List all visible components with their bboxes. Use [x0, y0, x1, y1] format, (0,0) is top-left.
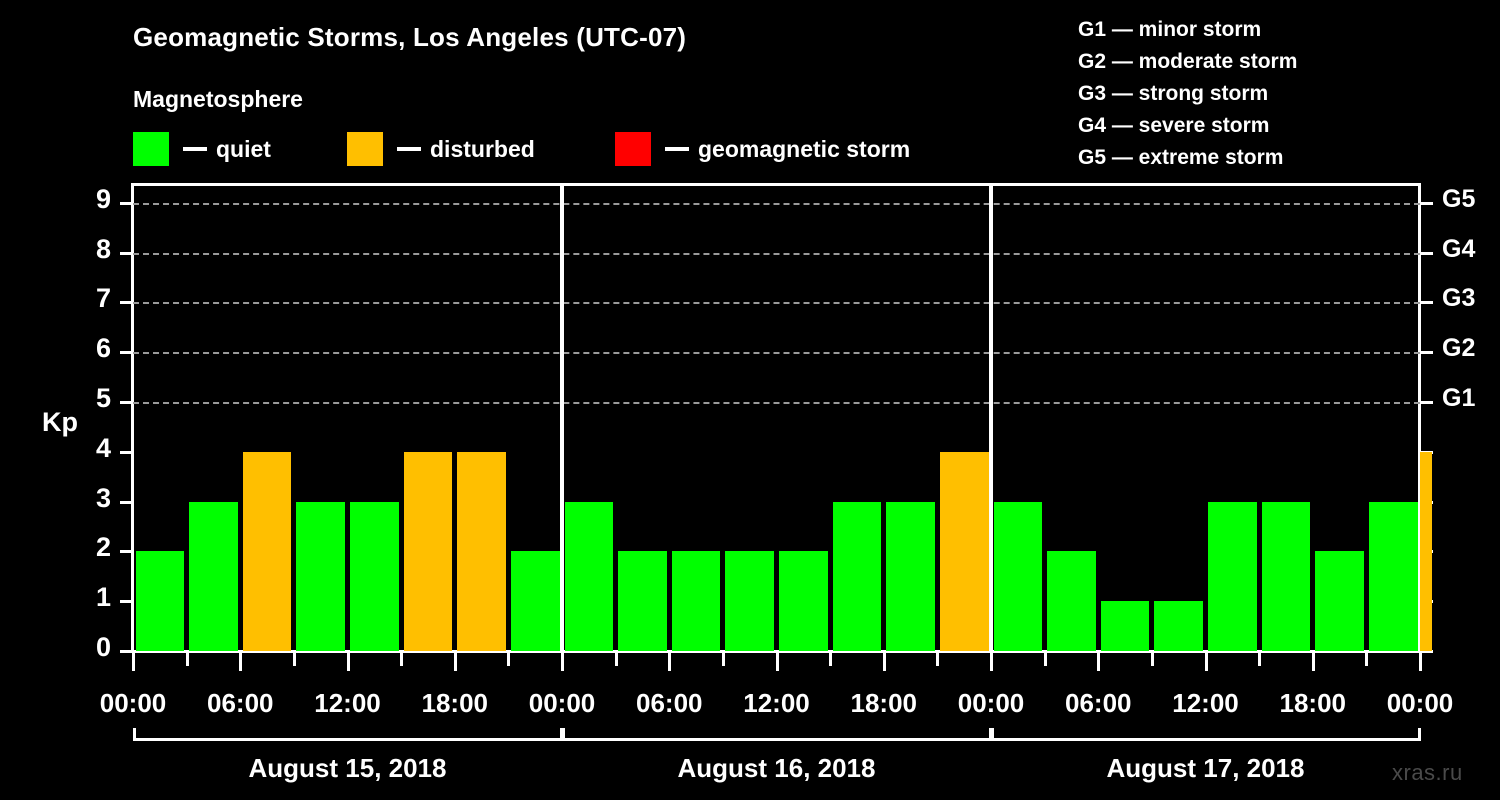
- y-tick-label-9: 9: [61, 184, 111, 215]
- x-tick-3: [293, 653, 296, 666]
- kp-bar[interactable]: [457, 452, 506, 651]
- kp-bar[interactable]: [1420, 452, 1432, 651]
- x-tick-14: [883, 653, 886, 671]
- g-scale-row-g1: G1 — minor storm: [1078, 14, 1297, 46]
- y-tick-right-9: [1420, 202, 1433, 205]
- kp-bar[interactable]: [404, 452, 453, 651]
- y-tick-label-1: 1: [61, 582, 111, 613]
- x-tick-label-9: 06:00: [1065, 688, 1132, 719]
- y-tick-left-7: [120, 301, 133, 304]
- g-axis-label-g5: G5: [1442, 185, 1475, 214]
- g-scale-row-g2: G2 — moderate storm: [1078, 46, 1297, 78]
- legend-label-quiet: quiet: [216, 138, 271, 161]
- y-tick-label-6: 6: [61, 333, 111, 364]
- x-tick-2: [239, 653, 242, 671]
- page-title: Geomagnetic Storms, Los Angeles (UTC-07): [133, 22, 686, 53]
- kp-bar[interactable]: [994, 502, 1043, 651]
- x-tick-23: [1365, 653, 1368, 666]
- date-bracket-end: [1418, 728, 1421, 741]
- x-tick-label-6: 12:00: [743, 688, 810, 719]
- y-tick-label-2: 2: [61, 532, 111, 563]
- kp-bar[interactable]: [350, 502, 399, 651]
- x-tick-13: [829, 653, 832, 666]
- x-tick-7: [507, 653, 510, 666]
- legend-label-geomagnetic-storm: geomagnetic storm: [698, 138, 910, 161]
- y-tick-left-2: [120, 550, 133, 553]
- y-tick-left-3: [120, 501, 133, 504]
- y-tick-label-5: 5: [61, 383, 111, 414]
- kp-bar[interactable]: [725, 551, 774, 651]
- x-tick-label-4: 00:00: [529, 688, 596, 719]
- y-tick-label-3: 3: [61, 483, 111, 514]
- date-bracket-2: [562, 738, 991, 741]
- legend-dash-quiet-icon: [183, 147, 207, 151]
- kp-bar[interactable]: [136, 551, 185, 651]
- x-tick-label-10: 12:00: [1172, 688, 1239, 719]
- legend-item-quiet: quiet: [133, 132, 271, 166]
- plot-area: 0123456789G1G2G3G4G5: [133, 183, 1420, 651]
- x-tick-11: [722, 653, 725, 666]
- legend-label-disturbed: disturbed: [430, 138, 535, 161]
- x-tick-19: [1151, 653, 1154, 666]
- kp-bar[interactable]: [511, 551, 560, 651]
- x-tick-20: [1205, 653, 1208, 671]
- kp-bar[interactable]: [779, 551, 828, 651]
- kp-bar[interactable]: [618, 551, 667, 651]
- g-scale-legend: G1 — minor stormG2 — moderate stormG3 — …: [1078, 14, 1297, 174]
- date-bracket-3: [991, 738, 1420, 741]
- kp-bar[interactable]: [1262, 502, 1311, 651]
- x-tick-label-5: 06:00: [636, 688, 703, 719]
- y-tick-label-7: 7: [61, 283, 111, 314]
- kp-bar[interactable]: [1208, 502, 1257, 651]
- date-bracket-end: [562, 728, 565, 741]
- g-scale-row-g5: G5 — extreme storm: [1078, 142, 1297, 174]
- x-tick-0: [132, 653, 135, 671]
- g-axis-label-g3: G3: [1442, 284, 1475, 313]
- y-tick-left-1: [120, 600, 133, 603]
- date-label-2: August 16, 2018: [678, 753, 876, 784]
- x-tick-label-7: 18:00: [851, 688, 918, 719]
- g-scale-row-g4: G4 — severe storm: [1078, 110, 1297, 142]
- x-tick-5: [400, 653, 403, 666]
- kp-bar[interactable]: [1154, 601, 1203, 651]
- y-tick-left-8: [120, 252, 133, 255]
- x-tick-16: [990, 653, 993, 671]
- y-tick-right-5: [1420, 401, 1433, 404]
- legend-item-disturbed: disturbed: [347, 132, 535, 166]
- x-tick-9: [615, 653, 618, 666]
- legend-swatch-storm-icon: [615, 132, 651, 166]
- date-label-3: August 17, 2018: [1107, 753, 1305, 784]
- day-separator-1: [560, 183, 564, 651]
- x-tick-label-12: 00:00: [1387, 688, 1454, 719]
- x-tick-18: [1097, 653, 1100, 671]
- y-tick-label-4: 4: [61, 433, 111, 464]
- x-tick-label-11: 18:00: [1280, 688, 1347, 719]
- date-label-1: August 15, 2018: [249, 753, 447, 784]
- legend-dash-disturbed-icon: [397, 147, 421, 151]
- date-bracket-end: [133, 728, 136, 741]
- x-tick-8: [561, 653, 564, 671]
- gridline-kp-9: [133, 203, 1420, 205]
- day-separator-2: [989, 183, 993, 651]
- gridline-kp-8: [133, 253, 1420, 255]
- x-tick-6: [454, 653, 457, 671]
- gridline-kp-5: [133, 402, 1420, 404]
- g-scale-row-g3: G3 — strong storm: [1078, 78, 1297, 110]
- x-tick-1: [186, 653, 189, 666]
- kp-bar[interactable]: [189, 502, 238, 651]
- y-tick-left-9: [120, 202, 133, 205]
- gridline-kp-6: [133, 352, 1420, 354]
- kp-bar[interactable]: [833, 502, 882, 651]
- y-tick-right-8: [1420, 252, 1433, 255]
- y-tick-left-5: [120, 401, 133, 404]
- y-tick-label-8: 8: [61, 234, 111, 265]
- watermark: xras.ru: [1392, 760, 1463, 786]
- date-bracket-end: [991, 728, 994, 741]
- kp-bar[interactable]: [243, 452, 292, 651]
- legend-item-geomagnetic-storm: geomagnetic storm: [615, 132, 910, 166]
- g-axis-label-g2: G2: [1442, 334, 1475, 363]
- kp-bar[interactable]: [672, 551, 721, 651]
- x-tick-label-3: 18:00: [422, 688, 489, 719]
- kp-bar[interactable]: [886, 502, 935, 651]
- x-tick-10: [668, 653, 671, 671]
- kp-bar[interactable]: [1315, 551, 1364, 651]
- x-tick-17: [1044, 653, 1047, 666]
- x-tick-label-1: 06:00: [207, 688, 274, 719]
- x-tick-22: [1312, 653, 1315, 671]
- kp-bar[interactable]: [1047, 551, 1096, 651]
- y-tick-right-7: [1420, 301, 1433, 304]
- x-tick-4: [347, 653, 350, 671]
- y-tick-left-4: [120, 451, 133, 454]
- x-tick-15: [936, 653, 939, 666]
- x-tick-label-8: 00:00: [958, 688, 1025, 719]
- kp-bar[interactable]: [296, 502, 345, 651]
- y-tick-right-6: [1420, 351, 1433, 354]
- kp-bar[interactable]: [1369, 502, 1418, 651]
- legend-dash-storm-icon: [665, 147, 689, 151]
- x-tick-12: [776, 653, 779, 671]
- magnetosphere-section-label: Magnetosphere: [133, 86, 303, 113]
- gridline-kp-7: [133, 302, 1420, 304]
- y-tick-label-0: 0: [61, 632, 111, 663]
- date-bracket-1: [133, 738, 562, 741]
- x-tick-label-0: 00:00: [100, 688, 167, 719]
- x-tick-label-2: 12:00: [314, 688, 381, 719]
- kp-bar[interactable]: [940, 452, 989, 651]
- legend-swatch-quiet-icon: [133, 132, 169, 166]
- y-tick-left-6: [120, 351, 133, 354]
- x-tick-21: [1258, 653, 1261, 666]
- kp-bar[interactable]: [1101, 601, 1150, 651]
- legend-swatch-disturbed-icon: [347, 132, 383, 166]
- g-axis-label-g4: G4: [1442, 235, 1475, 264]
- x-tick-24: [1419, 653, 1422, 671]
- kp-bar[interactable]: [565, 502, 614, 651]
- g-axis-label-g1: G1: [1442, 384, 1475, 413]
